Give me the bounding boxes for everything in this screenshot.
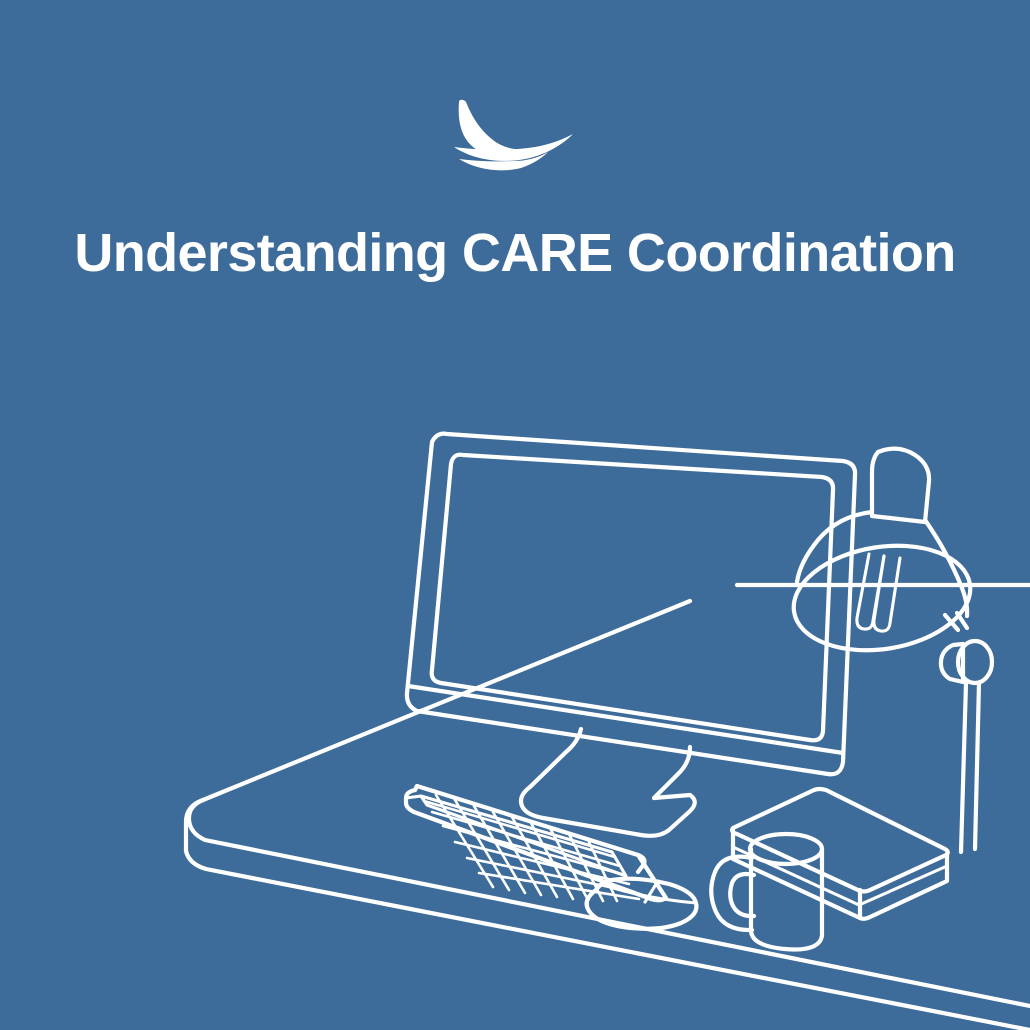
lamp-bulb (857, 554, 900, 631)
lamp-bulb-housing (872, 449, 929, 522)
keyboard (406, 786, 666, 901)
lamp-shade (786, 512, 978, 662)
computer-mouse (587, 879, 697, 929)
swoosh-wave-logo (453, 99, 577, 173)
lamp-arm (961, 683, 979, 852)
brand-logo (0, 98, 1030, 174)
desk-lamp (786, 449, 992, 852)
desk (186, 585, 1030, 1030)
desktop-monitor (407, 434, 855, 836)
slide-canvas: Understanding CARE Coordination (0, 0, 1030, 1030)
book (732, 789, 948, 919)
monitor-stand (521, 729, 695, 836)
page-title: Understanding CARE Coordination (0, 216, 1030, 290)
